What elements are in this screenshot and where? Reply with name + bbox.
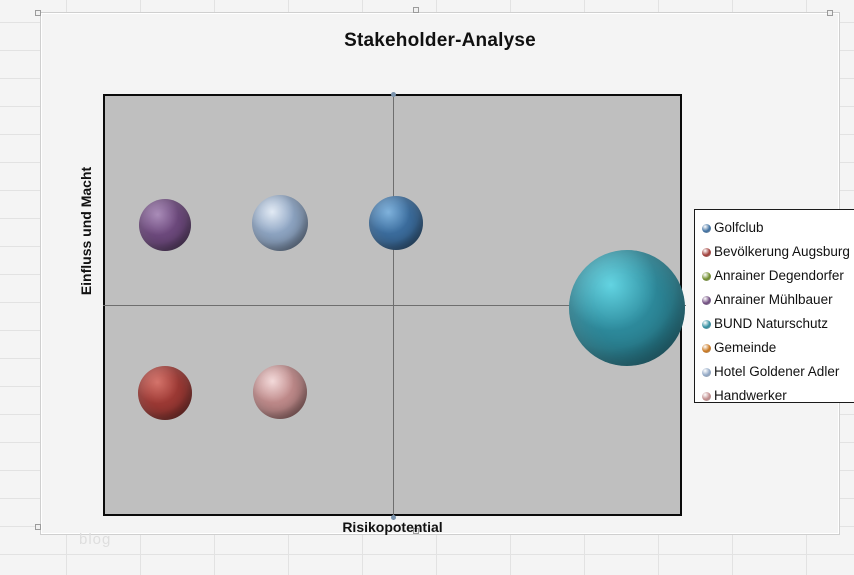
legend-item-label: Bevölkerung Augsburg: [714, 245, 850, 259]
legend-item-handwerker[interactable]: Handwerker: [695, 384, 854, 408]
bubble-bev-lkerung-augsburg[interactable]: [138, 366, 192, 420]
legend-marker-icon: [702, 224, 711, 233]
y-axis-title: Einfluss und Macht: [78, 131, 94, 331]
handle-dot[interactable]: [35, 524, 41, 530]
legend-item-label: Anrainer Degendorfer: [714, 269, 844, 283]
watermark-text: blog: [79, 531, 111, 548]
legend-marker-icon: [702, 296, 711, 305]
chart-legend[interactable]: GolfclubBevölkerung AugsburgAnrainer Deg…: [694, 209, 854, 403]
legend-item-bund-naturschutz[interactable]: BUND Naturschutz: [695, 312, 854, 336]
legend-marker-icon: [702, 368, 711, 377]
vertical-axis-top-marker: [391, 92, 396, 97]
legend-item-hotel-goldener-adler[interactable]: Hotel Goldener Adler: [695, 360, 854, 384]
chart-object-frame[interactable]: Stakeholder-Analyse Einfluss und Macht R…: [40, 12, 840, 535]
legend-item-bev-lkerung-augsburg[interactable]: Bevölkerung Augsburg: [695, 240, 854, 264]
legend-item-label: BUND Naturschutz: [714, 317, 828, 331]
chart-title: Stakeholder-Analyse: [41, 30, 839, 52]
legend-marker-icon: [702, 248, 711, 257]
legend-item-label: Anrainer Mühlbauer: [714, 293, 833, 307]
bubble-handwerker[interactable]: [253, 365, 307, 419]
legend-item-anrainer-degendorfer[interactable]: Anrainer Degendorfer: [695, 264, 854, 288]
legend-marker-icon: [702, 344, 711, 353]
x-axis-title: Risikopotential: [103, 519, 682, 535]
bubble-anrainer-m-hlbauer[interactable]: [139, 199, 191, 251]
legend-item-label: Handwerker: [714, 389, 787, 403]
plot-area[interactable]: [103, 94, 682, 516]
handle-dot[interactable]: [827, 10, 833, 16]
legend-item-label: Gemeinde: [714, 341, 776, 355]
handle-dot[interactable]: [35, 10, 41, 16]
legend-item-label: Hotel Goldener Adler: [714, 365, 839, 379]
bubble-golfclub[interactable]: [369, 196, 423, 250]
legend-marker-icon: [702, 272, 711, 281]
vertical-quadrant-axis: [393, 94, 394, 520]
legend-item-golfclub[interactable]: Golfclub: [695, 216, 854, 240]
handle-dot[interactable]: [413, 7, 419, 13]
legend-item-anrainer-m-hlbauer[interactable]: Anrainer Mühlbauer: [695, 288, 854, 312]
legend-marker-icon: [702, 320, 711, 329]
bubble-hotel-goldener-adler[interactable]: [252, 195, 308, 251]
legend-item-gemeinde[interactable]: Gemeinde: [695, 336, 854, 360]
bubble-bund-naturschutz[interactable]: [569, 250, 685, 366]
legend-marker-icon: [702, 392, 711, 401]
spreadsheet-chart-screenshot: Stakeholder-Analyse Einfluss und Macht R…: [0, 0, 854, 575]
legend-item-label: Golfclub: [714, 221, 764, 235]
